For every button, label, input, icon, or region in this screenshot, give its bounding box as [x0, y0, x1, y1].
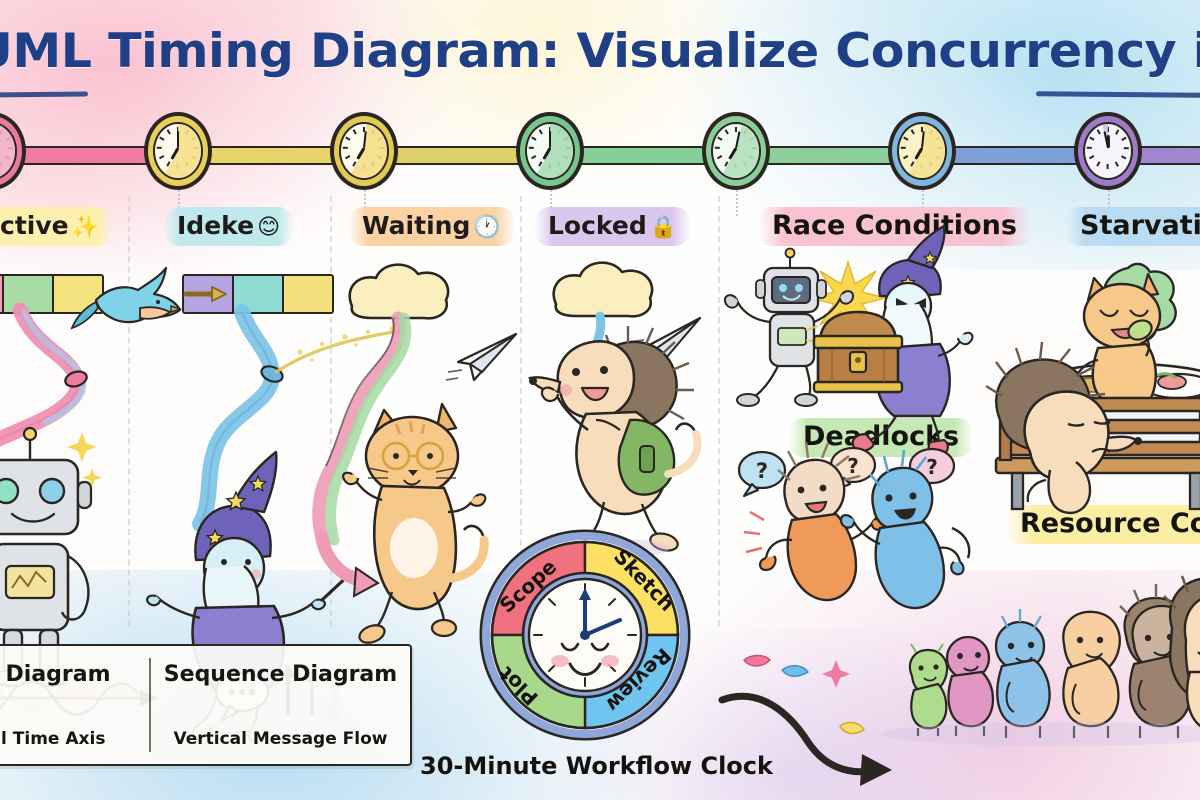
legend-item-sequence-diagram: Sequence Diagram Vertical Message Flow [151, 646, 410, 764]
legend-box: iming Diagram rizontal Time Axis Sequenc… [0, 644, 412, 766]
legend-title-sequence: Sequence Diagram [164, 662, 397, 687]
queue-creature-peach [1063, 612, 1119, 738]
queue-creature-blue [996, 609, 1050, 738]
legend-title-timing: iming Diagram [0, 662, 111, 687]
workflow-clock: Scope Sketch Review Plot [478, 528, 692, 742]
hedgehog-backpack-character [529, 326, 698, 558]
legend-subtitle-timing: rizontal Time Axis [0, 729, 105, 749]
deadlocks-scene: ? ? ? [739, 442, 969, 608]
paper-plane-icon [446, 334, 516, 380]
queue-creature-green [910, 641, 947, 736]
starvation-scene [986, 264, 1200, 513]
legend-item-timing-diagram: iming Diagram rizontal Time Axis [0, 646, 149, 764]
bird-icon [72, 268, 180, 328]
cat-character [343, 404, 485, 646]
treasure-chest-icon [814, 312, 902, 392]
illustration-canvas: UML Timing Diagram: Visualize Concurrenc… [0, 0, 1200, 800]
question-bubble-blue: ? [739, 452, 785, 496]
svg-text:?: ? [926, 455, 938, 479]
svg-text:?: ? [847, 454, 859, 478]
confetti [744, 656, 864, 734]
svg-text:?: ? [756, 459, 768, 483]
queue-creature-pink [947, 637, 993, 736]
race-conditions-scene [725, 226, 973, 455]
workflow-clock-caption: 30-Minute Workflow Clock [420, 752, 770, 780]
legend-subtitle-sequence: Vertical Message Flow [174, 729, 388, 749]
